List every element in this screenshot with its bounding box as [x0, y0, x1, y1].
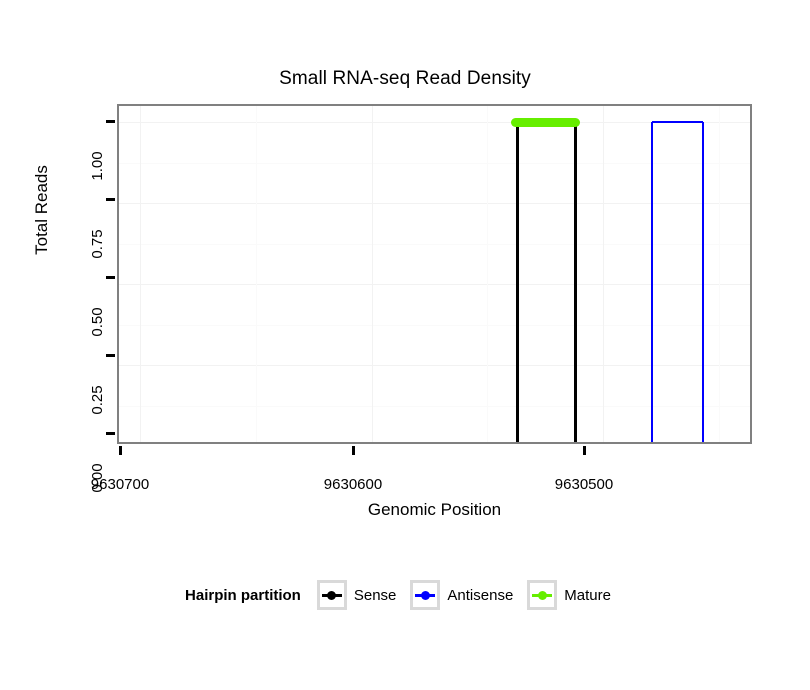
legend-key-antisense	[410, 580, 440, 610]
y-axis-tick-label: 1.00	[89, 121, 106, 211]
x-axis-tick-label: 9630700	[91, 476, 149, 493]
grid-line-vertical-minor	[719, 106, 720, 442]
plot-area	[119, 106, 750, 442]
legend-key-sense	[317, 580, 347, 610]
x-axis-title: Genomic Position	[117, 500, 752, 520]
series-segment-sense	[516, 122, 519, 442]
legend-title: Hairpin partition	[185, 587, 301, 604]
grid-line-vertical	[603, 106, 604, 442]
x-axis-tick-label: 9630500	[555, 476, 613, 493]
grid-line-vertical	[140, 106, 141, 442]
y-axis-title: Total Reads	[32, 110, 52, 310]
y-axis-tick-label: 0.75	[89, 199, 106, 289]
y-axis-tick	[106, 198, 115, 201]
grid-line-vertical-minor	[256, 106, 257, 442]
legend-item-label: Mature	[564, 587, 611, 604]
legend-item-sense[interactable]: Sense	[317, 580, 397, 610]
y-axis-tick	[106, 432, 115, 435]
legend-items: SenseAntisenseMature	[317, 580, 625, 610]
series-segment-mature	[511, 118, 579, 127]
chart-title: Small RNA-seq Read Density	[0, 68, 810, 90]
grid-line-horizontal-minor	[119, 325, 750, 326]
y-axis-tick	[106, 354, 115, 357]
x-axis-tick	[119, 446, 122, 455]
legend-item-antisense[interactable]: Antisense	[410, 580, 513, 610]
grid-line-horizontal	[119, 365, 750, 366]
grid-line-horizontal-minor	[119, 163, 750, 164]
legend-item-mature[interactable]: Mature	[527, 580, 611, 610]
chart-figure: Small RNA-seq Read Density Total Reads G…	[0, 0, 810, 690]
plot-panel	[117, 104, 752, 444]
legend-key-dot	[421, 591, 430, 600]
grid-line-horizontal-minor	[119, 406, 750, 407]
y-axis-tick	[106, 120, 115, 123]
grid-line-horizontal	[119, 203, 750, 204]
grid-line-vertical-minor	[487, 106, 488, 442]
x-axis-tick	[352, 446, 355, 455]
grid-line-horizontal	[119, 284, 750, 285]
series-segment-antisense	[652, 121, 703, 124]
y-axis-tick	[106, 276, 115, 279]
series-segment-sense	[574, 122, 577, 442]
series-segment-antisense	[702, 122, 705, 442]
x-axis-tick-label: 9630600	[324, 476, 382, 493]
legend-key-mature	[527, 580, 557, 610]
y-axis-tick-label: 0.25	[89, 355, 106, 445]
legend-key-dot	[327, 591, 336, 600]
grid-line-vertical	[372, 106, 373, 442]
legend-item-label: Sense	[354, 587, 397, 604]
legend-key-dot	[538, 591, 547, 600]
series-segment-antisense	[651, 122, 654, 442]
y-axis-tick-label: 0.50	[89, 277, 106, 367]
x-axis-tick	[583, 446, 586, 455]
grid-line-horizontal-minor	[119, 244, 750, 245]
legend-item-label: Antisense	[447, 587, 513, 604]
legend: Hairpin partition SenseAntisenseMature	[0, 580, 810, 610]
